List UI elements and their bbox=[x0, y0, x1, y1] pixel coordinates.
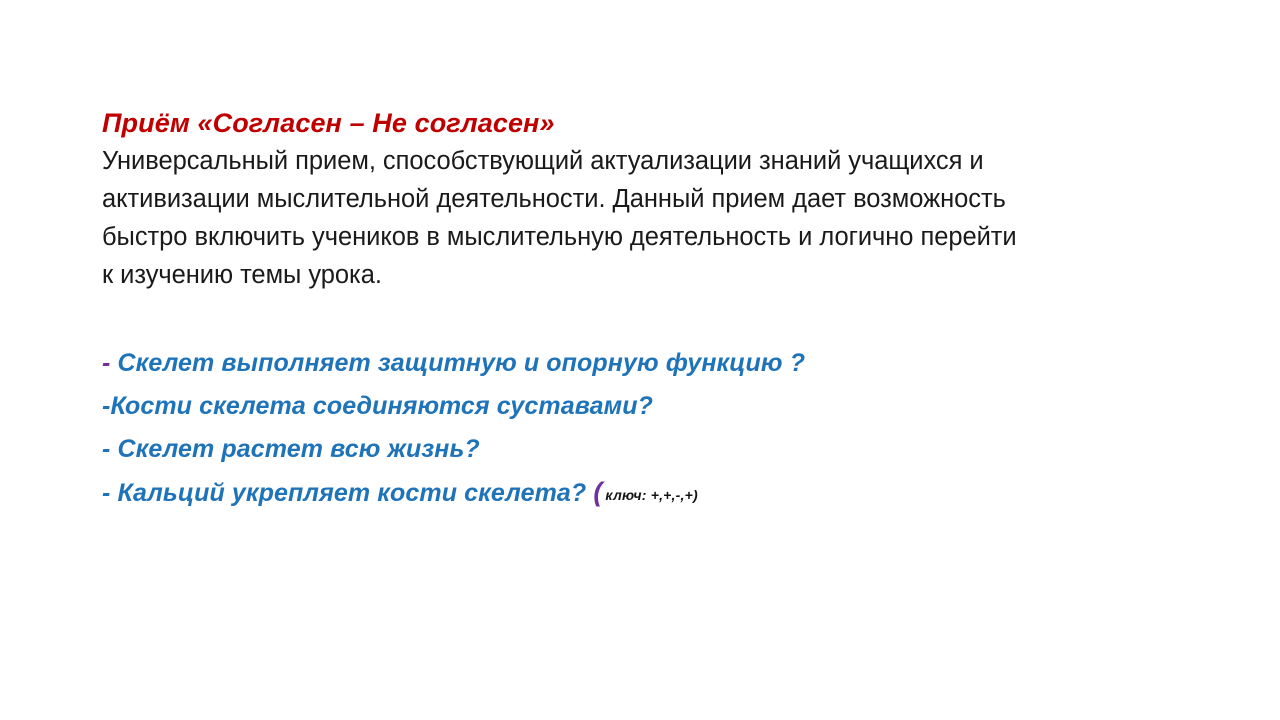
question-item-3: - Скелет растет всю жизнь? bbox=[102, 428, 1192, 471]
page-title: Приём «Согласен – Не согласен» bbox=[102, 104, 1192, 142]
description-line: Универсальный прием, способствующий акту… bbox=[102, 142, 1192, 180]
question-text: Кальций укрепляет кости скелета? bbox=[117, 479, 586, 507]
question-item-4: - Кальций укрепляет кости скелета? (ключ… bbox=[102, 471, 1192, 517]
question-text: Скелет растет всю жизнь? bbox=[117, 435, 479, 463]
description-line: к изучению темы урока. bbox=[102, 256, 1192, 294]
question-text: Кости скелета соединяются суставами? bbox=[110, 392, 653, 420]
question-text: Скелет выполняет защитную и опорную функ… bbox=[117, 349, 805, 377]
question-list: - Скелет выполняет защитную и опорную фу… bbox=[102, 342, 1192, 517]
content-block: Приём «Согласен – Не согласен» Универсал… bbox=[102, 104, 1192, 517]
description-line: активизации мыслительной деятельности. Д… bbox=[102, 180, 1192, 218]
answer-key-note: ключ: +,+,-,+) bbox=[602, 487, 697, 503]
question-item-2: -Кости скелета соединяются суставами? bbox=[102, 385, 1192, 428]
slide-canvas: Приём «Согласен – Не согласен» Универсал… bbox=[0, 0, 1280, 720]
section-divider-space bbox=[102, 294, 1192, 342]
description-paragraph: Универсальный прием, способствующий акту… bbox=[102, 142, 1192, 294]
description-line: быстро включить учеников в мыслительную … bbox=[102, 218, 1192, 256]
question-item-1: - Скелет выполняет защитную и опорную фу… bbox=[102, 342, 1192, 385]
